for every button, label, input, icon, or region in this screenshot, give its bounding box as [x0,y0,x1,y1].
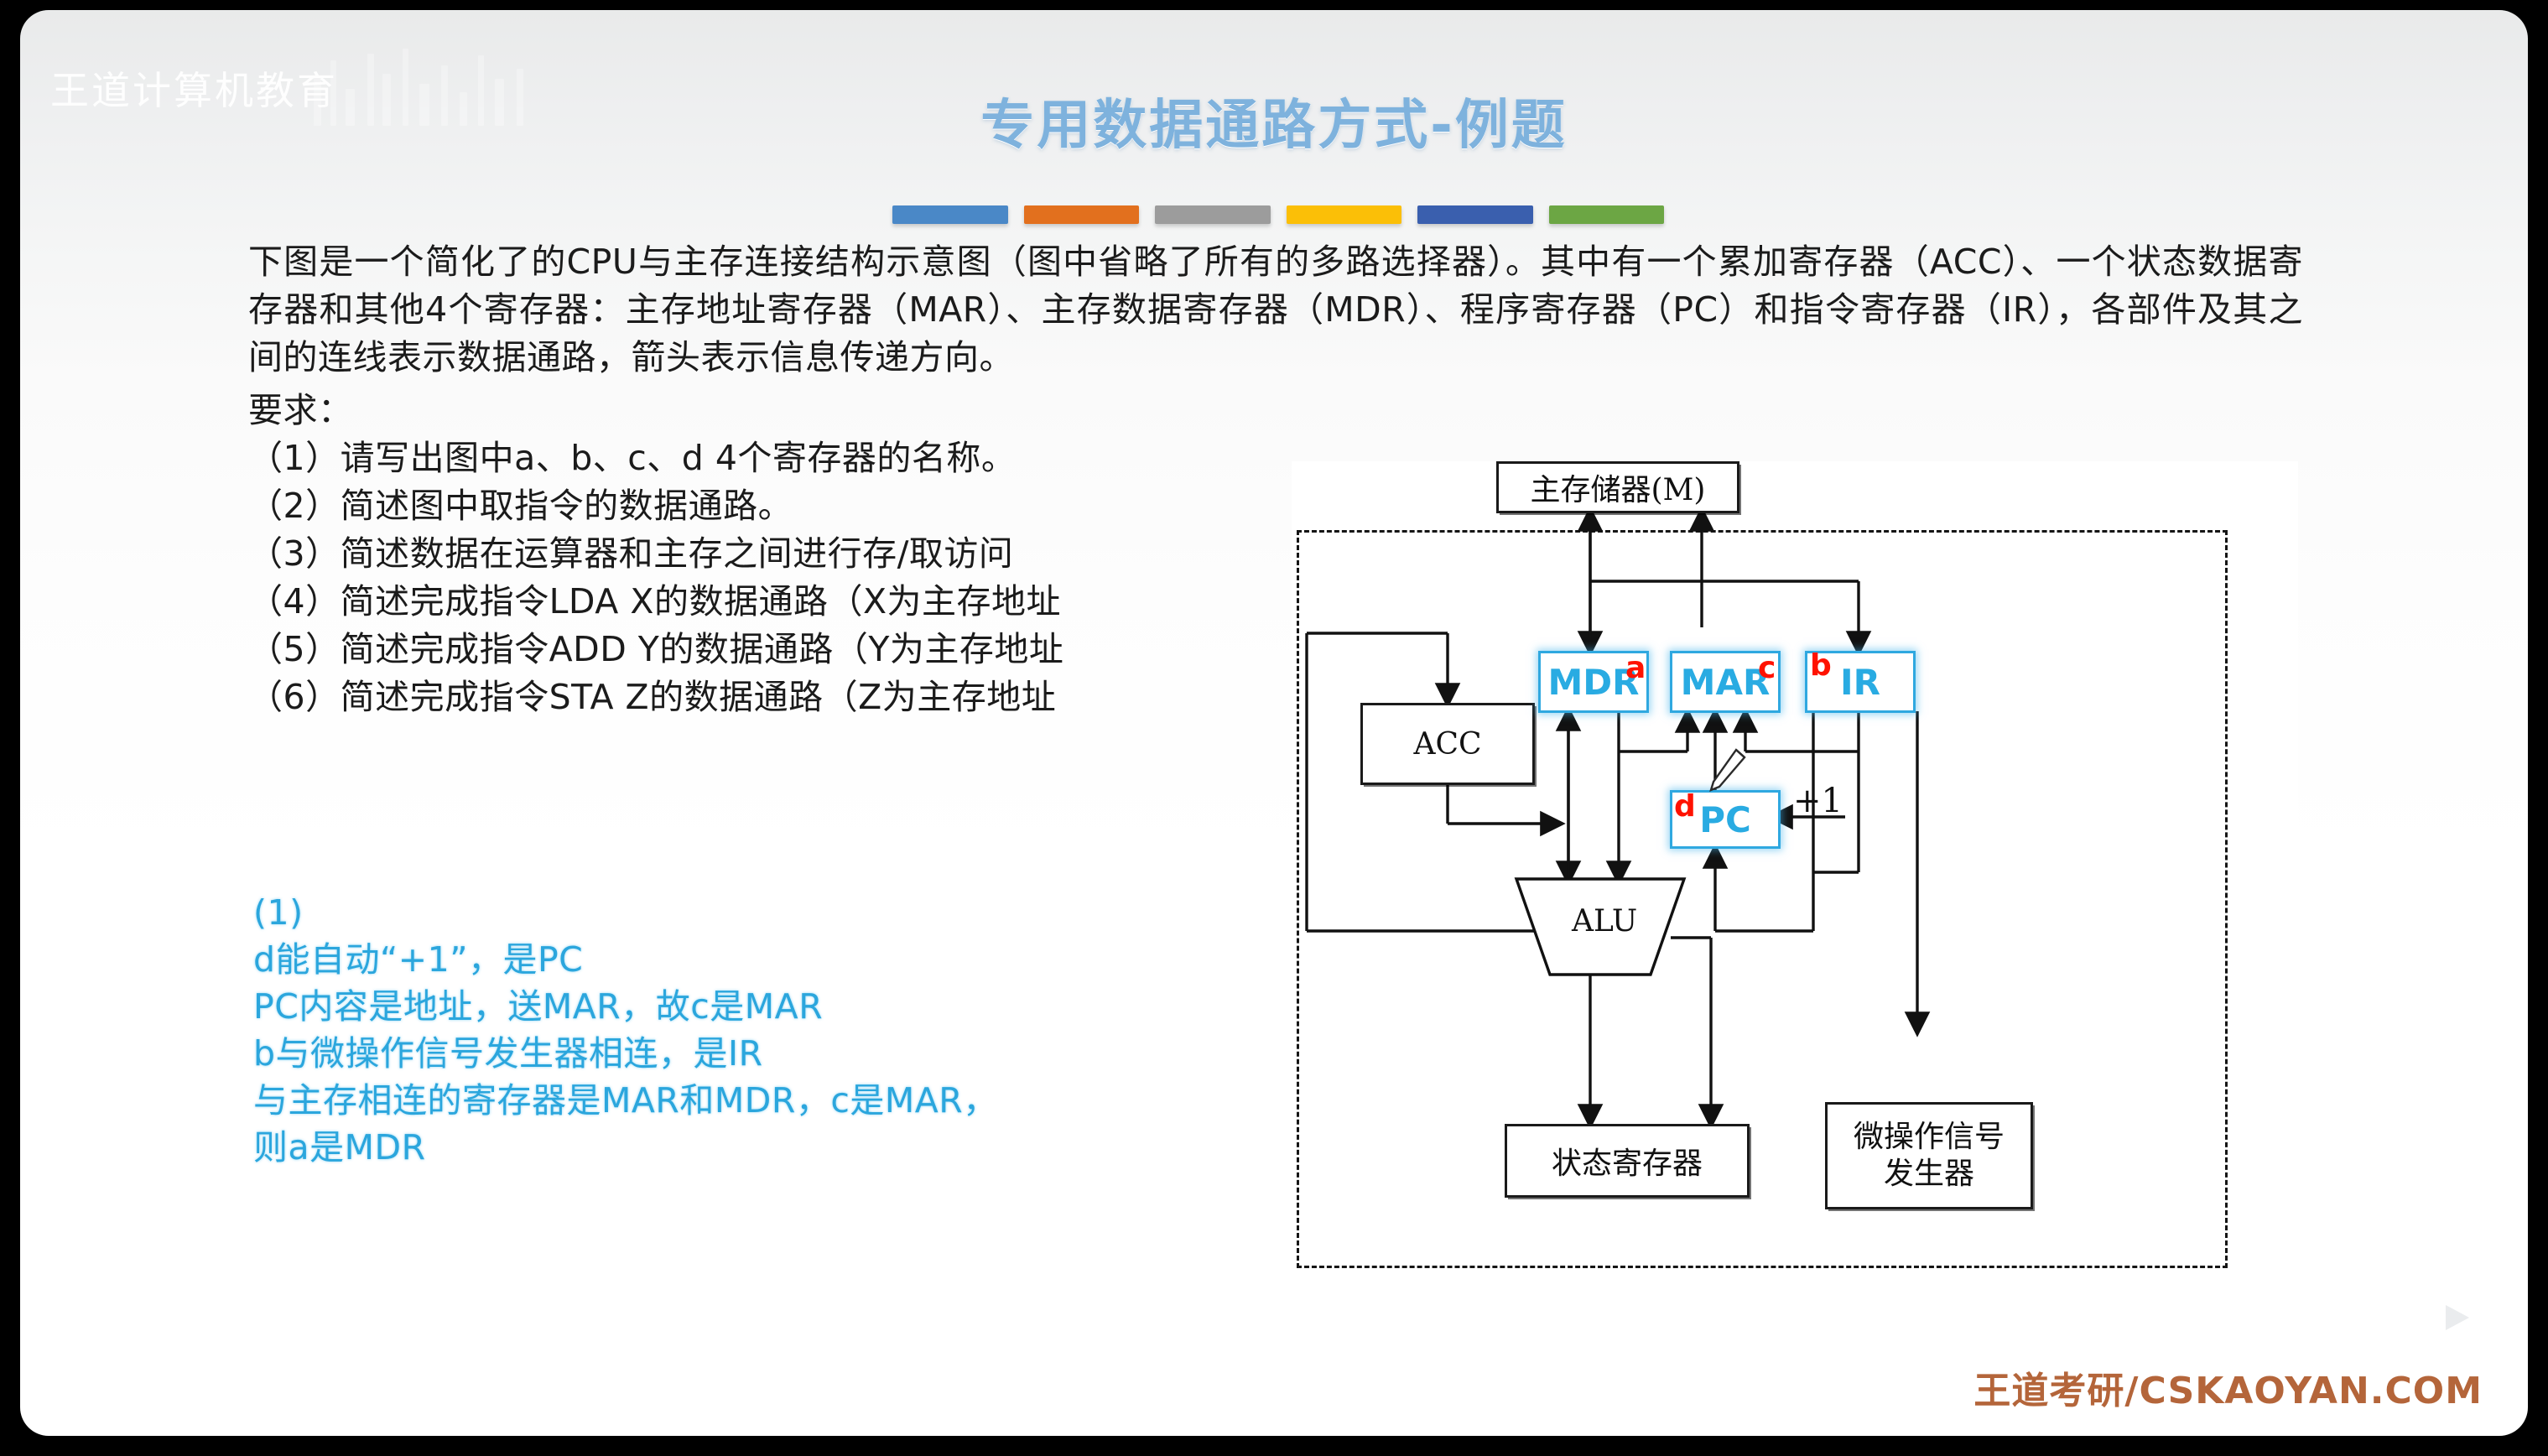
micro-signal-line-2: 发生器 [1884,1156,1974,1193]
mar-tag-c: c [1758,653,1776,684]
alu-label: ALU [1572,904,1637,939]
title-decoration-bar [892,205,1664,227]
pc-tag-d: d [1674,792,1696,822]
diagram-connections [1292,461,2298,1308]
answer-line-4: 与主存相连的寄存器是MAR和MDR，c是MAR， [253,1080,1226,1121]
page-title: 专用数据通路方式-例题 [20,82,2528,159]
deco-bar-5 [1417,205,1533,224]
deco-bar-1 [892,205,1008,224]
answer-line-5: 则a是MDR [253,1127,1226,1167]
screen-frame: 王道计算机教育 专用数据通路方式-例题 下图是一个简化了的CPU与主存连接结构示… [0,0,2548,1456]
deco-bar-2 [1024,205,1140,224]
cpu-memory-diagram: 主存储器(M) ACC MDR a MAR c IR b PC d +1 ALU… [1292,461,2298,1308]
deco-bar-4 [1287,205,1402,224]
brand-text: 王道考研/CSKAOYAN.COM [1973,1360,2483,1414]
deco-bar-6 [1549,205,1665,224]
status-register-box: 状态寄存器 [1505,1124,1750,1198]
bilibili-tv-play-icon [2410,1271,2498,1352]
answer-line-1: d能自动“+1”，是PC [253,939,1226,980]
mdr-tag-a: a [1625,653,1646,684]
answer-line-3: b与微操作信号发生器相连，是IR [253,1033,1226,1074]
answer-line-2: PC内容是地址，送MAR，故c是MAR [253,986,1226,1027]
micro-signal-generator-box: 微操作信号 发生器 [1825,1102,2033,1209]
deco-bar-3 [1155,205,1271,224]
answer-block: (1) d能自动“+1”，是PC PC内容是地址，送MAR，故c是MAR b与微… [253,892,1226,1174]
micro-signal-line-1: 微操作信号 [1854,1119,2005,1156]
pen-cursor-icon [1703,745,1750,797]
slide-canvas: 王道计算机教育 专用数据通路方式-例题 下图是一个简化了的CPU与主存连接结构示… [20,10,2528,1436]
answer-heading: (1) [253,892,1226,933]
requirements-label: 要求： [248,387,2303,434]
ir-tag-b: b [1810,651,1832,681]
pc-increment-label: +1 [1793,782,1843,820]
acc-box: ACC [1360,703,1535,785]
main-memory-box: 主存储器(M) [1496,461,1739,513]
question-paragraph: 下图是一个简化了的CPU与主存连接结构示意图（图中省略了所有的多路选择器）。其中… [248,238,2303,382]
